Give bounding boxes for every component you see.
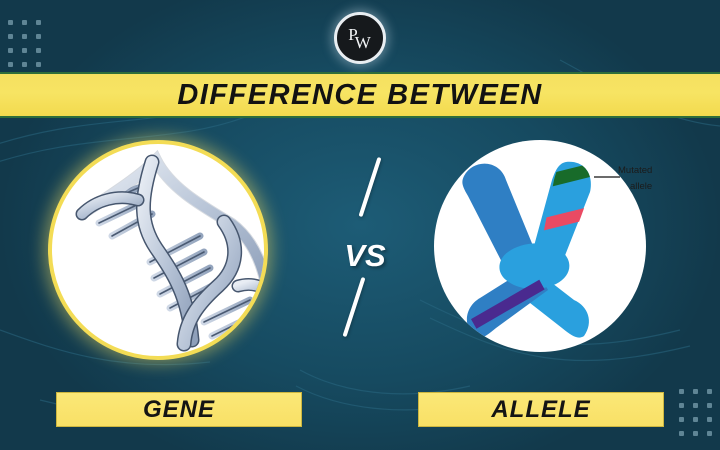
page-title: DIFFERENCE BETWEEN: [177, 79, 542, 112]
dot-grid-top-left: [8, 20, 41, 67]
divider-slash-bottom: [343, 277, 366, 337]
right-illustration-circle: [434, 140, 646, 352]
pw-logo-letter-w: W: [355, 33, 370, 52]
pw-logo: PW: [334, 12, 386, 64]
versus-divider: VS: [330, 150, 400, 350]
dna-double-helix-icon: [52, 144, 264, 356]
dot-grid-bottom-right: [679, 389, 712, 436]
mutated-allele-callout: Mutated allele: [616, 160, 716, 202]
pw-logo-letters: PW: [348, 30, 372, 47]
right-label-text: ALLELE: [491, 396, 590, 424]
left-label-box: GENE: [56, 392, 302, 427]
callout-line-2: allele: [630, 181, 652, 192]
left-label-text: GENE: [143, 396, 215, 424]
title-banner: DIFFERENCE BETWEEN: [0, 72, 720, 118]
left-illustration-circle: [48, 140, 268, 360]
right-label-box: ALLELE: [418, 392, 664, 427]
chromosome-icon: [434, 140, 646, 352]
versus-label: VS: [330, 238, 400, 274]
infographic-canvas: PW DIFFERENCE BETWEEN: [0, 0, 720, 450]
callout-line-1: Mutated: [618, 165, 652, 176]
divider-slash-top: [359, 157, 382, 217]
